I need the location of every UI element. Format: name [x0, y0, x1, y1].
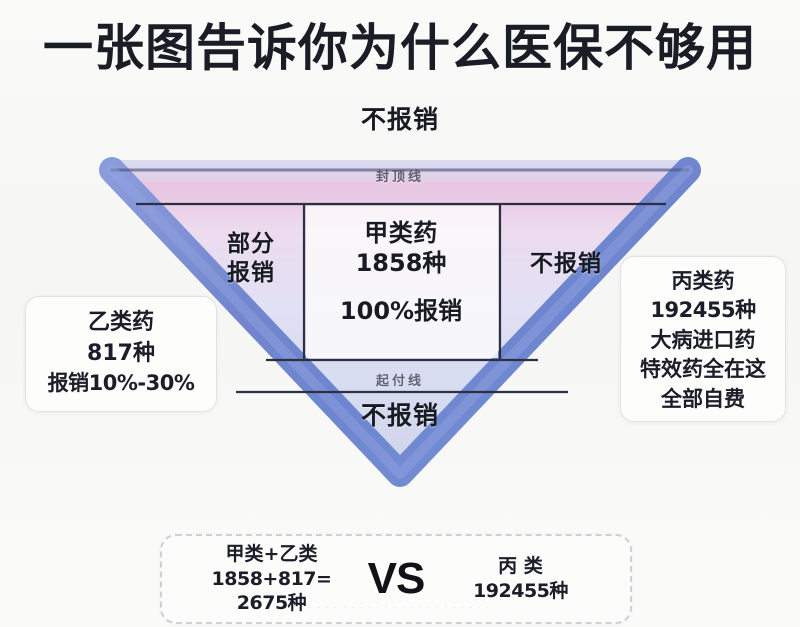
class-c-drug-note2: 特效药全在这 — [621, 355, 785, 384]
callout-class-c-drug: 丙类药 192455种 大病进口药 特效药全在这 全部自费 — [620, 256, 786, 422]
comparison-left-line2: 1858+817= — [184, 567, 359, 592]
comparison-left-line1: 甲类+乙类 — [184, 542, 359, 567]
partial-reimburse-block: 部分 报销 — [196, 230, 306, 289]
class-c-drug-name: 丙类药 — [621, 267, 785, 296]
class-c-drug-note3: 全部自费 — [621, 385, 785, 414]
cap-line-label: 封顶线 — [88, 166, 712, 185]
right-column-no-reimburse-label: 不报销 — [496, 244, 636, 278]
class-a-drug-name: 甲类药 — [313, 218, 489, 248]
partial-reimburse-line2: 报销 — [196, 259, 306, 288]
class-c-drug-count: 192455种 — [621, 296, 785, 325]
class-a-drug-block: 甲类药 1858种 100%报销 — [313, 218, 489, 326]
class-c-drug-note1: 大病进口药 — [621, 326, 785, 355]
class-b-drug-count: 817种 — [26, 338, 216, 369]
comparison-right-line1: 丙 类 — [433, 554, 608, 579]
page-title: 一张图告诉你为什么医保不够用 — [0, 22, 800, 75]
poster-canvas: 一张图告诉你为什么医保不够用 — [0, 0, 800, 627]
comparison-right-block: 丙 类 192455种 — [433, 554, 608, 603]
class-a-drug-rate: 100%报销 — [313, 296, 489, 326]
cap-line-band — [88, 182, 712, 204]
triangle-top-no-reimburse-label: 不报销 — [88, 100, 712, 136]
class-a-drug-count: 1858种 — [313, 248, 489, 278]
partial-reimburse-line1: 部分 — [196, 230, 306, 259]
class-b-drug-rate: 报销10%-30% — [26, 369, 216, 399]
comparison-right-line2: 192455种 — [433, 579, 608, 604]
watermark-strip: · · · · · · · · · · · · · · · · · · · · … — [0, 604, 800, 612]
class-b-drug-name: 乙类药 — [26, 307, 216, 338]
versus-label: VS — [368, 554, 425, 604]
callout-class-b-drug: 乙类药 817种 报销10%-30% — [25, 296, 217, 412]
